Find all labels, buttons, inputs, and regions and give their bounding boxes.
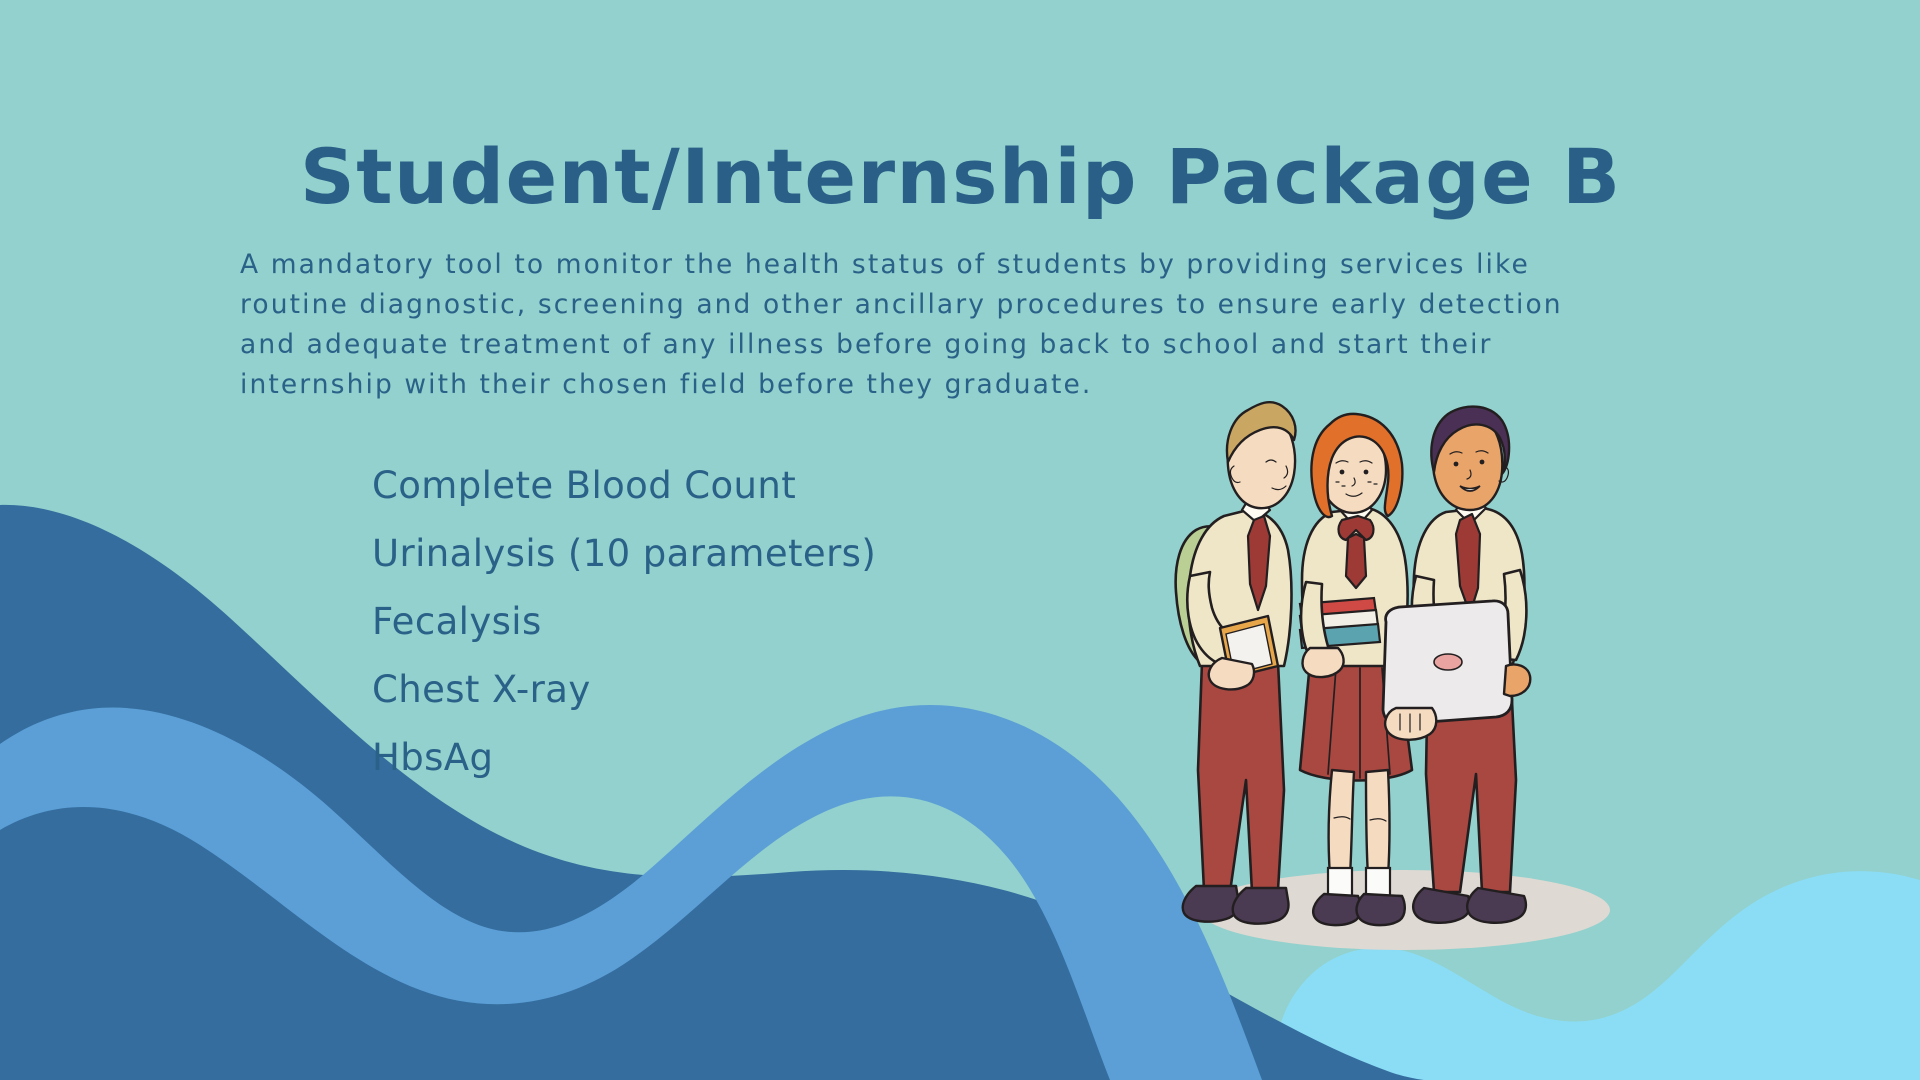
list-item: HbsAg: [372, 724, 876, 792]
list-item: Fecalysis: [372, 588, 876, 656]
list-item: Urinalysis (10 parameters): [372, 520, 876, 588]
three-students-illustration: .ln { fill:none; stroke:#231f20; stroke-…: [1160, 370, 1640, 970]
page-title: Student/Internship Package B: [300, 139, 1622, 215]
shoe: [1357, 894, 1405, 925]
services-list: Complete Blood Count Urinalysis (10 para…: [372, 452, 876, 792]
shoe: [1233, 888, 1289, 924]
hand: [1504, 664, 1530, 696]
hand: [1209, 658, 1254, 689]
leg: [1366, 770, 1390, 876]
laptop-logo: [1434, 654, 1462, 670]
leg: [1329, 770, 1354, 876]
hand: [1303, 648, 1344, 677]
hand: [1385, 708, 1436, 740]
shoe: [1183, 886, 1239, 922]
eye: [1454, 462, 1459, 467]
eye: [1364, 470, 1369, 475]
ribbon-tail: [1346, 534, 1366, 588]
left-student-trousers: [1198, 662, 1284, 892]
slide-root: Student/Internship Package B A mandatory…: [0, 0, 1920, 1080]
student-left: [1176, 402, 1296, 924]
eye: [1480, 460, 1485, 465]
shoe: [1313, 894, 1361, 925]
list-item: Chest X-ray: [372, 656, 876, 724]
eye: [1340, 470, 1345, 475]
list-item: Complete Blood Count: [372, 452, 876, 520]
